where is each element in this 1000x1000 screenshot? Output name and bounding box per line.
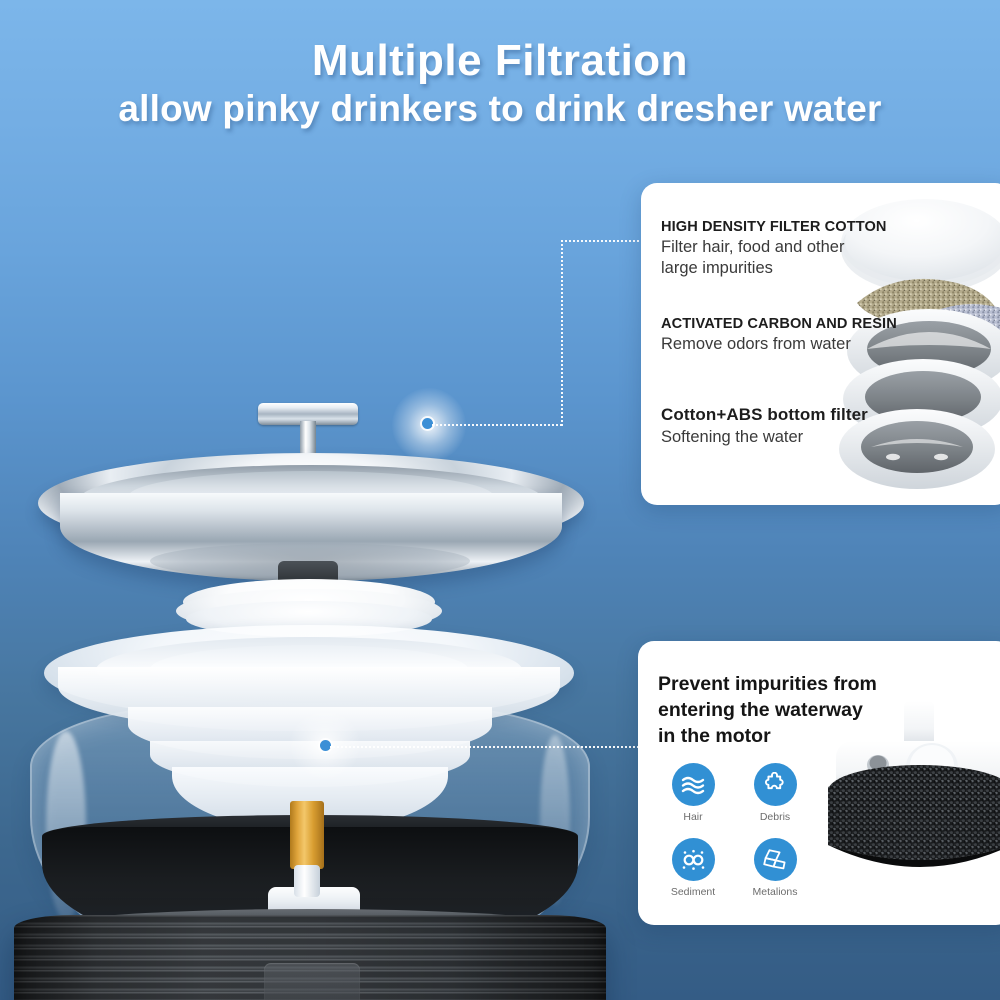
- page-title: Multiple Filtration: [0, 38, 1000, 84]
- filter-layer-description: Remove odors from water: [661, 334, 897, 355]
- connector-line-bottom-horizontal: [330, 746, 642, 748]
- filter-layer-block-cotton: HIGH DENSITY FILTER COTTON Filter hair, …: [661, 219, 887, 280]
- connector-line-top-horizontal-1: [432, 424, 562, 426]
- feature-label: Sediment: [652, 886, 734, 898]
- impurity-feature-grid: Hair Debris: [652, 763, 816, 913]
- feature-hair[interactable]: Hair: [652, 763, 734, 838]
- filter-layer-description: Filter hair, food and other large impuri…: [661, 237, 887, 280]
- sediment-particles-icon: [672, 838, 715, 881]
- feature-sediment[interactable]: Sediment: [652, 838, 734, 913]
- filter-layer-block-carbon-resin: ACTIVATED CARBON AND RESIN Remove odors …: [661, 316, 897, 355]
- headline-group: Multiple Filtration allow pinky drinkers…: [0, 38, 1000, 130]
- filter-layer-heading: Cotton+ABS bottom filter: [661, 405, 868, 425]
- page-subtitle: allow pinky drinkers to drink dresher wa…: [0, 88, 1000, 129]
- connector-line-top-vertical: [561, 240, 563, 426]
- feature-label: Metalions: [734, 886, 816, 898]
- pump-fitting-neck: [294, 865, 320, 897]
- pump-foam-filter-illustration: [824, 693, 1000, 919]
- feature-label: Hair: [652, 811, 734, 823]
- filter-layer-heading: HIGH DENSITY FILTER COTTON: [661, 219, 887, 235]
- puzzle-piece-icon: [754, 763, 797, 806]
- feature-metalions[interactable]: Metalions: [734, 838, 816, 913]
- metal-ingots-icon: [754, 838, 797, 881]
- feature-label: Debris: [734, 811, 816, 823]
- base-front-panel: [264, 963, 360, 1000]
- waves-icon: [672, 763, 715, 806]
- filter-layer-description: Softening the water: [661, 427, 868, 448]
- brass-water-tube: [290, 801, 324, 869]
- filter-layer-block-bottom: Cotton+ABS bottom filter Softening the w…: [661, 405, 868, 448]
- motor-protection-info-card: Prevent impurities from entering the wat…: [638, 641, 1000, 925]
- filter-layer-heading: ACTIVATED CARBON AND RESIN: [661, 316, 897, 332]
- connector-line-top-horizontal-2: [561, 240, 643, 242]
- product-exploded-view: [0, 175, 640, 975]
- feature-debris[interactable]: Debris: [734, 763, 816, 838]
- filter-layers-info-card: HIGH DENSITY FILTER COTTON Filter hair, …: [641, 183, 1000, 505]
